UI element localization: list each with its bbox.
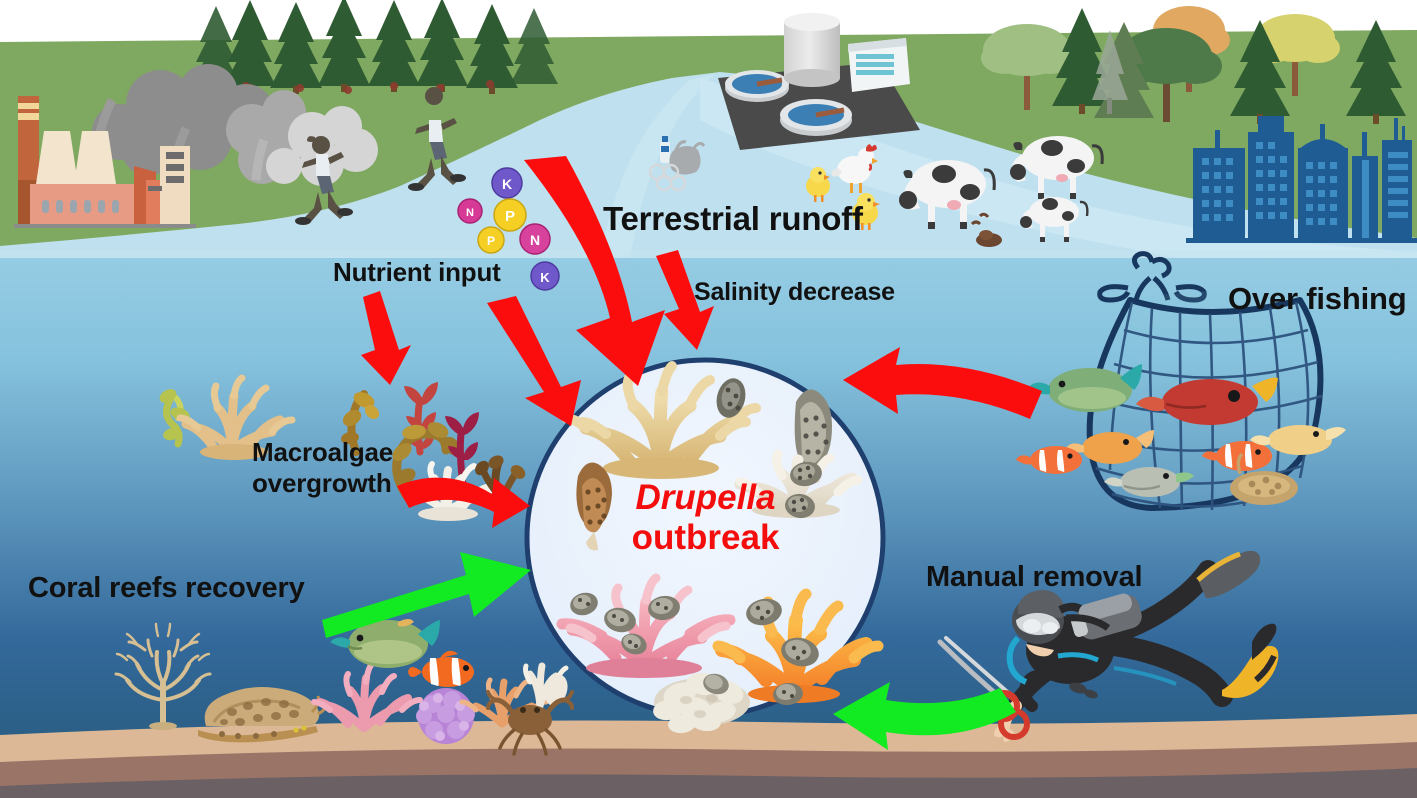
label-macroalgae-overgrowth: Macroalgae overgrowth: [252, 437, 422, 499]
molecule-P-1: P: [494, 199, 526, 231]
svg-text:K: K: [540, 270, 550, 285]
outbreak-center-label: Drupella outbreak: [598, 478, 813, 558]
svg-text:P: P: [487, 234, 495, 248]
label-over-fishing: Over fishing: [1228, 281, 1406, 317]
molecule-K-2: K: [531, 262, 559, 290]
figure-canvas: K N P P N K Terrestrial runoff Nutrient …: [0, 0, 1417, 798]
svg-text:N: N: [530, 232, 540, 248]
label-nutrient-input: Nutrient input: [333, 257, 501, 288]
label-manual-removal: Manual removal: [926, 561, 1142, 594]
illustration-artboard: K N P P N K: [0, 0, 1417, 798]
molecule-N-1: N: [458, 199, 482, 223]
event-name: outbreak: [598, 518, 813, 558]
waterline-strip: [0, 250, 1417, 258]
molecule-P-2: P: [478, 227, 504, 253]
label-terrestrial-runoff: Terrestrial runoff: [603, 200, 863, 238]
molecule-N-2: N: [520, 224, 550, 254]
label-salinity-decrease: Salinity decrease: [694, 278, 895, 307]
svg-text:K: K: [502, 176, 512, 192]
svg-text:N: N: [466, 207, 474, 219]
species-name: Drupella: [598, 478, 813, 518]
label-coral-reefs-recovery: Coral reefs recovery: [28, 572, 305, 605]
svg-text:P: P: [505, 208, 515, 225]
molecule-K-1: K: [492, 168, 522, 198]
